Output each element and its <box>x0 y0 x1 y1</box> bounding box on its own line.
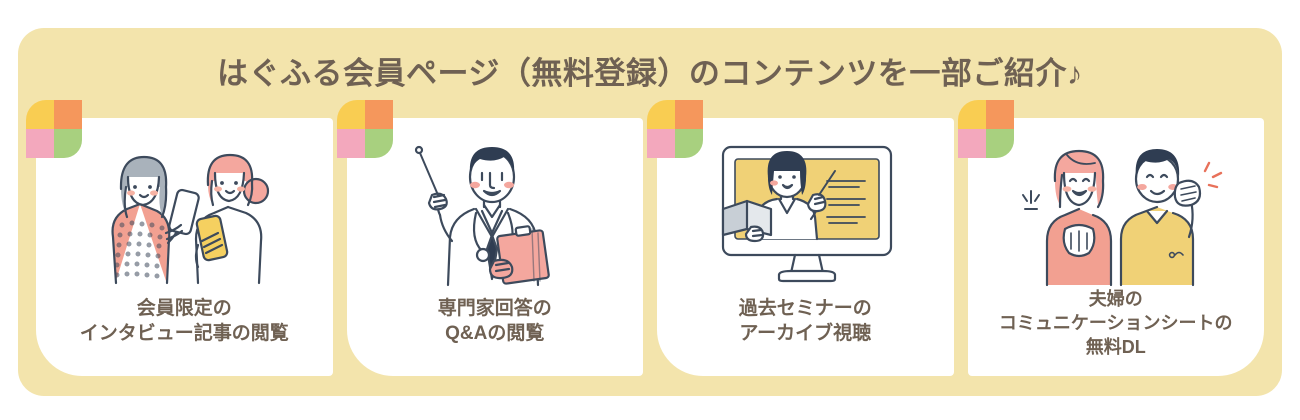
doctor-with-pointer-and-clipboard-illustration <box>347 128 645 293</box>
badge-quadrant-top-left <box>647 100 675 129</box>
promo-banner: はぐふる会員ページ（無料登録）のコンテンツを一部ご紹介♪ 1 <box>0 0 1300 420</box>
banner-heading: はぐふる会員ページ（無料登録）のコンテンツを一部ご紹介♪ <box>18 48 1282 93</box>
badge-quadrant-top-left <box>958 100 986 129</box>
badge-quadrant-bottom-left <box>26 129 54 158</box>
badge-quadrant-bottom-left <box>647 129 675 158</box>
badge-quadrant-top-right <box>54 100 82 129</box>
card-caption-1: 会員限定の インタビュー記事の閲覧 <box>44 296 325 346</box>
badge-quadrant-top-right <box>675 100 703 129</box>
content-card-3[interactable]: 3 <box>657 118 954 376</box>
badge-quadrant-top-right <box>986 100 1014 129</box>
badge-quadrant-bottom-left <box>958 129 986 158</box>
badge-quadrant-bottom-left <box>337 129 365 158</box>
banner-panel: はぐふる会員ページ（無料登録）のコンテンツを一部ご紹介♪ 1 <box>18 28 1282 396</box>
badge-quadrant-top-right <box>365 100 393 129</box>
badge-quadrant-top-left <box>337 100 365 129</box>
content-card-2[interactable]: 2 <box>347 118 644 376</box>
card-caption-4: 夫婦の コミュニケーションシートの 無料DL <box>976 288 1257 359</box>
number-badge-2 <box>337 100 393 158</box>
number-badge-3 <box>647 100 703 158</box>
card-caption-3: 過去セミナーの アーカイブ視聴 <box>665 296 946 346</box>
content-card-4[interactable]: 4 <box>968 118 1265 376</box>
card-caption-2: 専門家回答の Q&Aの閲覧 <box>355 296 636 346</box>
badge-quadrant-top-left <box>26 100 54 129</box>
content-card-list: 1 <box>36 118 1264 376</box>
number-badge-1 <box>26 100 82 158</box>
couple-celebrating-illustration <box>968 128 1266 293</box>
content-card-1[interactable]: 1 <box>36 118 333 376</box>
two-women-with-smartphones-illustration <box>36 128 334 293</box>
number-badge-4 <box>958 100 1014 158</box>
monitor-seminar-lecturer-illustration <box>657 128 955 293</box>
